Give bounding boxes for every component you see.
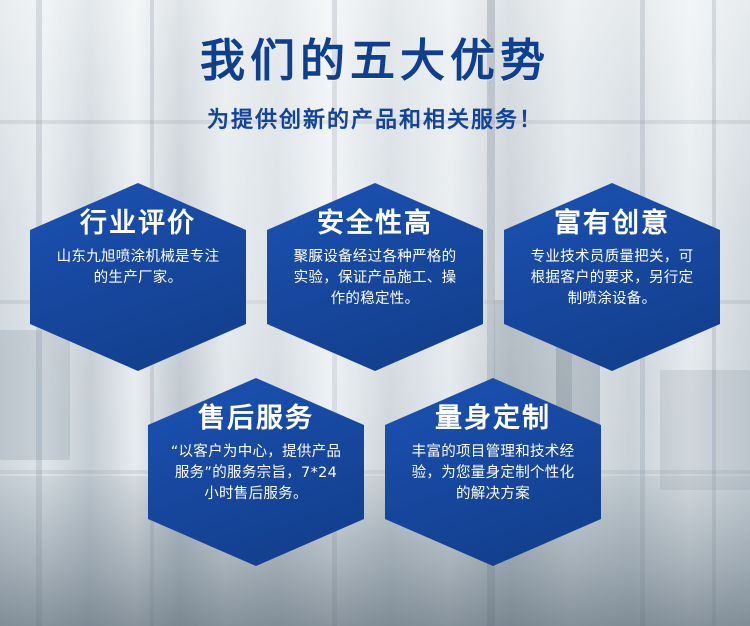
advantage-body: “以客户为中心，提供产品服务”的服务宗旨，7*24小时售后服务。 — [164, 442, 348, 505]
advantages-poster: 我们的五大优势 为提供创新的产品和相关服务！ 行业评价 山东九旭喷涂机械是专注的… — [0, 0, 750, 626]
advantage-card-high-safety[interactable]: 安全性高 聚脲设备经过各种严格的实验，保证产品施工、操作的稳定性。 — [267, 183, 483, 371]
advantage-body: 聚脲设备经过各种严格的实验，保证产品施工、操作的稳定性。 — [283, 247, 467, 310]
advantage-title: 量身定制 — [401, 404, 585, 434]
advantage-body: 专业技术员质量把关，可根据客户的要求，另行定制喷涂设备。 — [520, 247, 704, 310]
advantage-title: 富有创意 — [520, 209, 704, 239]
page-subtitle: 为提供创新的产品和相关服务！ — [0, 102, 750, 134]
advantage-body: 山东九旭喷涂机械是专注的生产厂家。 — [46, 247, 230, 289]
advantage-card-customization[interactable]: 量身定制 丰富的项目管理和技术经验，为您量身定制个性化的解决方案 — [385, 378, 601, 566]
advantage-body: 丰富的项目管理和技术经验，为您量身定制个性化的解决方案 — [401, 442, 585, 505]
heading-block: 我们的五大优势 为提供创新的产品和相关服务！ — [0, 34, 750, 134]
advantage-card-creative[interactable]: 富有创意 专业技术员质量把关，可根据客户的要求，另行定制喷涂设备。 — [504, 183, 720, 371]
advantage-card-industry-reputation[interactable]: 行业评价 山东九旭喷涂机械是专注的生产厂家。 — [30, 183, 246, 371]
advantage-card-after-sales[interactable]: 售后服务 “以客户为中心，提供产品服务”的服务宗旨，7*24小时售后服务。 — [148, 378, 364, 566]
page-title: 我们的五大优势 — [0, 34, 750, 88]
advantage-title: 售后服务 — [164, 404, 348, 434]
advantage-title: 行业评价 — [46, 209, 230, 239]
advantage-title: 安全性高 — [283, 209, 467, 239]
